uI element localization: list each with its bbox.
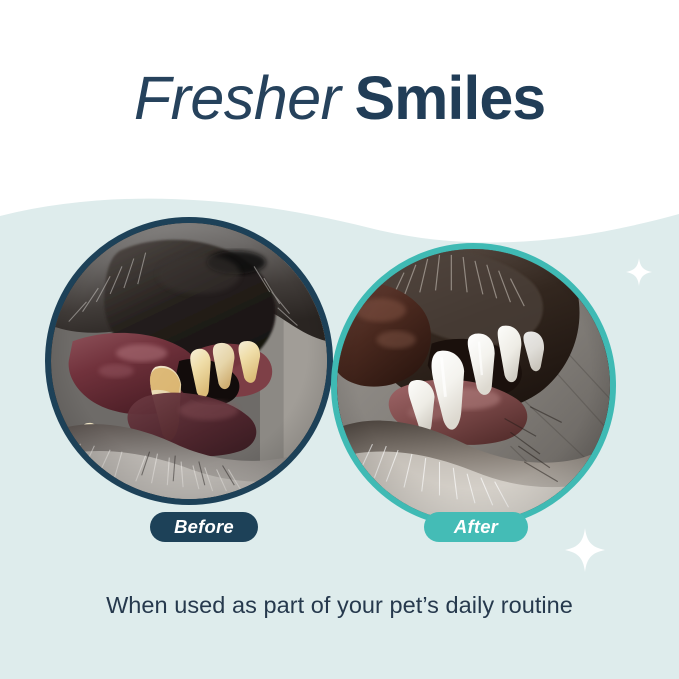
status-badge-before: Before [150,512,258,542]
before-photo [51,223,327,499]
before-photo-circle[interactable] [45,217,333,505]
badge-after-label: After [454,516,498,538]
after-photo-circle[interactable] [331,243,616,528]
before-photo-artwork [51,223,327,499]
after-photo-artwork [337,249,610,522]
after-photo [337,249,610,522]
before-after-comparison: Before After [0,0,679,679]
badge-before-label: Before [174,516,234,538]
promo-poster: FresherSmiles [0,0,679,679]
status-badge-after: After [424,512,528,542]
